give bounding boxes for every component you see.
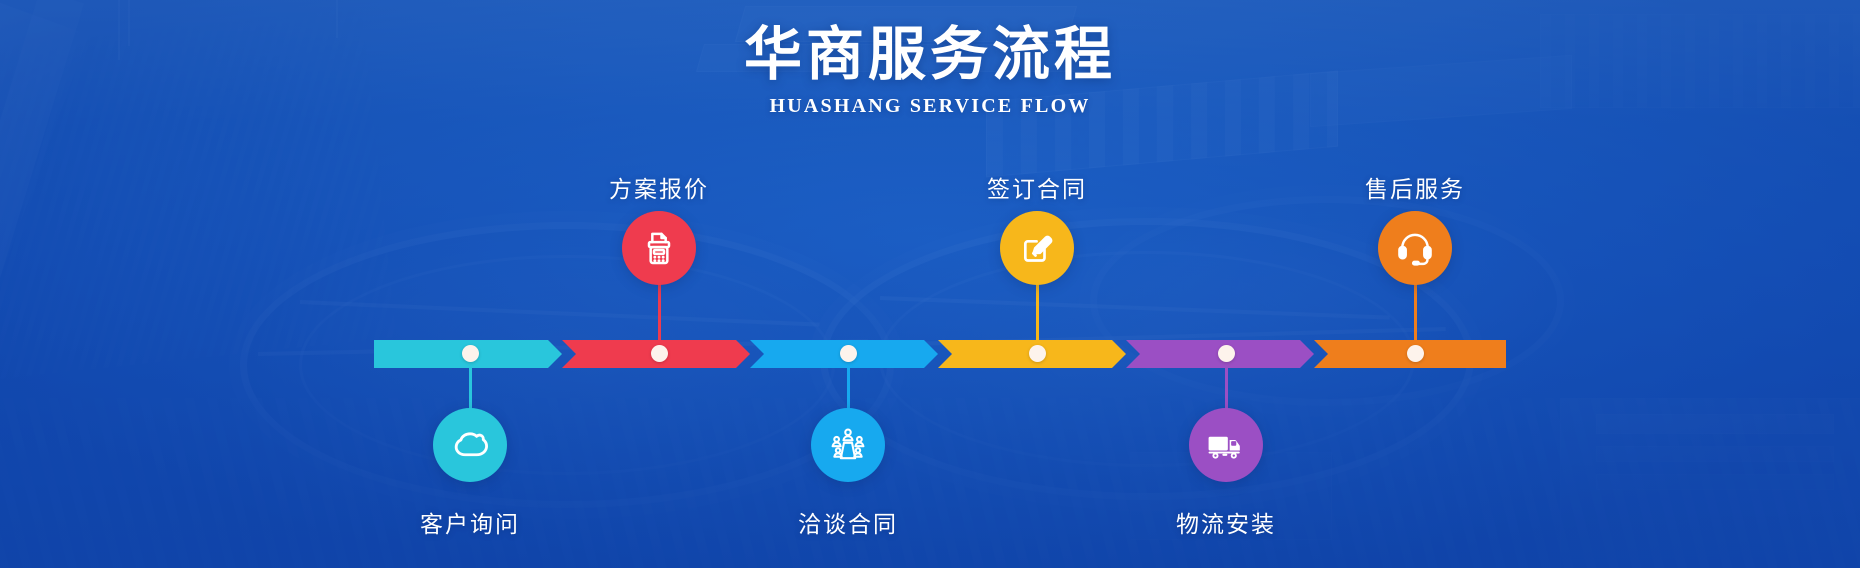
flow-node-dot-5 bbox=[1218, 345, 1235, 362]
service-flow-banner: 华商服务流程 HUASHANG SERVICE FLOW 客户询问 方案报价 bbox=[0, 0, 1860, 568]
flow-connector-1 bbox=[469, 354, 472, 415]
flow-step-label-5: 物流安装 bbox=[1176, 505, 1276, 539]
page-subtitle: HUASHANG SERVICE FLOW bbox=[0, 95, 1860, 118]
pen-edit-icon bbox=[1017, 228, 1057, 268]
flow-step-label-1: 客户询问 bbox=[420, 505, 520, 539]
flow-icon-bubble-5[interactable] bbox=[1189, 408, 1263, 482]
flow-step-label-3: 洽谈合同 bbox=[798, 505, 898, 539]
meeting-table-icon bbox=[827, 424, 869, 466]
flow-icon-bubble-2[interactable] bbox=[622, 211, 696, 285]
flow-node-dot-4 bbox=[1029, 345, 1046, 362]
flow-step-label-2: 方案报价 bbox=[609, 170, 709, 204]
delivery-truck-icon bbox=[1204, 423, 1248, 467]
flow-step-label-6: 售后服务 bbox=[1365, 170, 1465, 204]
flow-step-label-4: 签订合同 bbox=[987, 170, 1087, 204]
page-title: 华商服务流程 bbox=[0, 0, 1860, 87]
flow-connector-4 bbox=[1036, 278, 1039, 354]
banner-header: 华商服务流程 HUASHANG SERVICE FLOW bbox=[0, 0, 1860, 118]
flow-node-dot-3 bbox=[840, 345, 857, 362]
chat-bubble-icon bbox=[450, 425, 490, 465]
flow-connector-6 bbox=[1414, 278, 1417, 354]
calculator-icon bbox=[639, 228, 679, 268]
flow-node-dot-6 bbox=[1407, 345, 1424, 362]
flow-icon-bubble-1[interactable] bbox=[433, 408, 507, 482]
flow-node-dot-2 bbox=[651, 345, 668, 362]
flow-connector-5 bbox=[1225, 354, 1228, 415]
headset-icon bbox=[1394, 227, 1436, 269]
flow-icon-bubble-6[interactable] bbox=[1378, 211, 1452, 285]
flow-connector-2 bbox=[658, 278, 661, 354]
flow-connector-3 bbox=[847, 354, 850, 415]
flow-icon-bubble-3[interactable] bbox=[811, 408, 885, 482]
flow-node-dot-1 bbox=[462, 345, 479, 362]
flow-icon-bubble-4[interactable] bbox=[1000, 211, 1074, 285]
